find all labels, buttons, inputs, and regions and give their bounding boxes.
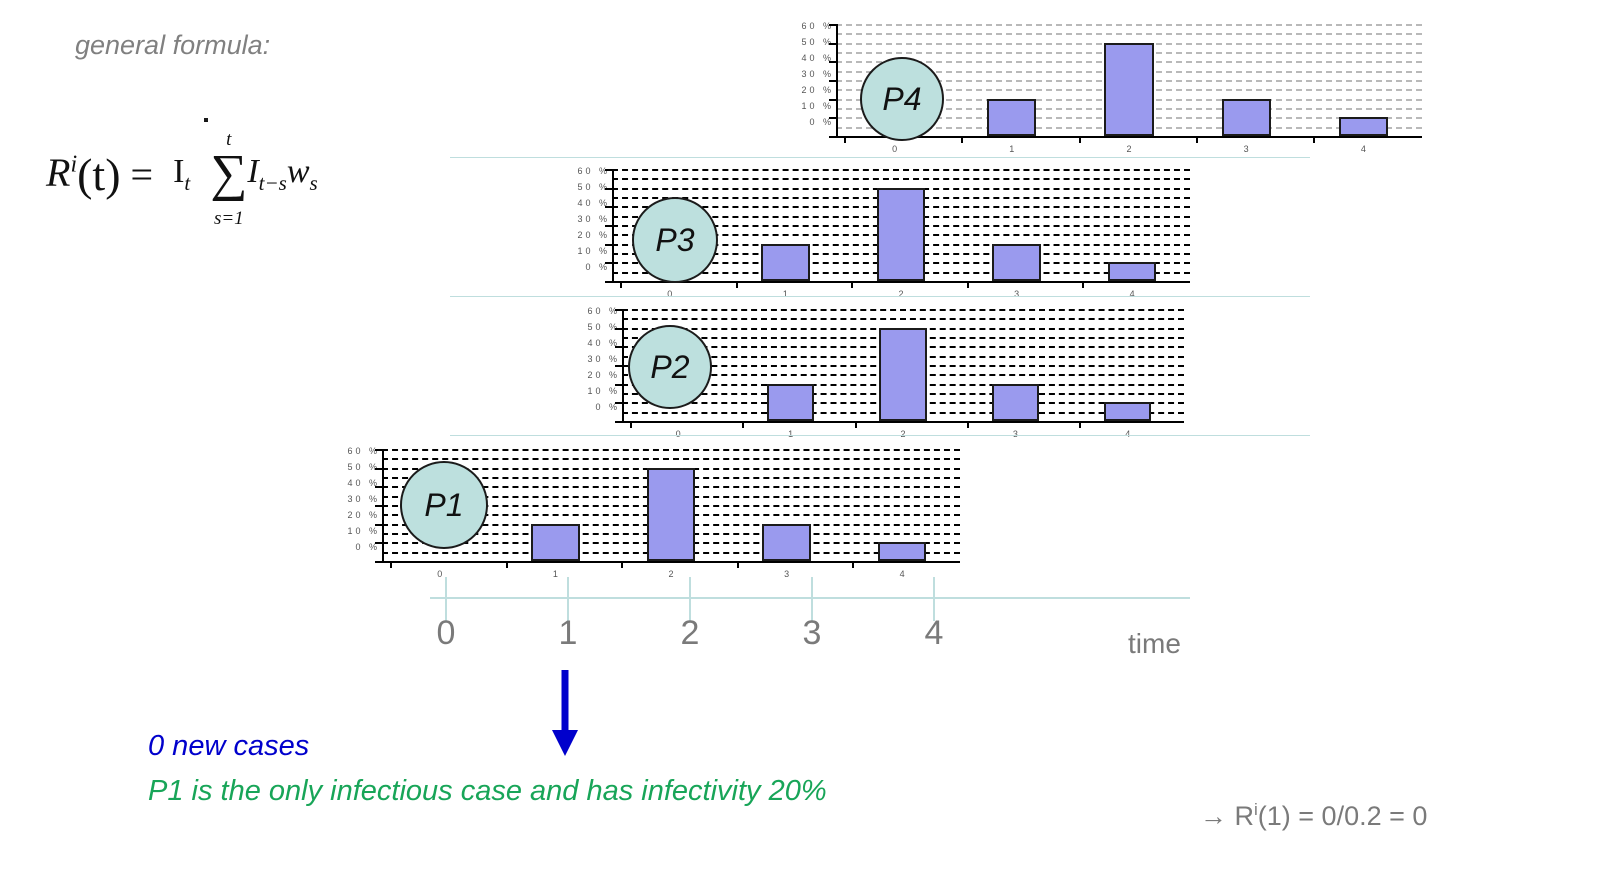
x-axis-tick-label: 3 (997, 289, 1037, 299)
y-axis-tick-label: 20 % (548, 367, 620, 383)
down-arrow-icon (546, 668, 586, 760)
timeline-label: 3 (782, 614, 842, 653)
x-axis-line (836, 136, 1422, 138)
y-axis-tick (615, 328, 624, 330)
bar (531, 524, 580, 561)
x-axis-tick (855, 421, 857, 428)
y-axis-tick-label: 30 % (548, 351, 620, 367)
x-axis-line (622, 421, 1184, 423)
y-axis-tick-label: 10 % (548, 383, 620, 399)
x-axis-tick-label: 2 (881, 289, 921, 299)
x-axis-line (382, 561, 960, 563)
x-axis-tick (961, 136, 963, 143)
formula-equals: = (125, 151, 160, 198)
x-axis-tick (736, 281, 738, 288)
y-axis-tick-label: 30 % (308, 491, 380, 507)
x-axis-tick (1196, 136, 1198, 143)
y-axis-tick (375, 486, 384, 488)
gridline-minor (612, 178, 1190, 180)
x-axis-tick (390, 561, 392, 568)
formula-numerator-subscript: t (184, 171, 190, 195)
x-axis-tick (1079, 421, 1081, 428)
formula-sum-lower-limit: s=1 (214, 208, 244, 229)
gridline-minor (382, 458, 960, 460)
caption-new-cases: 0 new cases (148, 730, 309, 763)
timeline-label: 0 (416, 614, 476, 653)
result-formula-prefix: → R (1200, 801, 1254, 831)
y-axis-tick (615, 346, 624, 348)
formula-fraction-bar (204, 118, 208, 122)
y-axis-tick-labels-P4: 60 %50 %40 %30 %20 %10 %0 % (762, 18, 834, 130)
caption-infectious: P1 is the only infectious case and has i… (148, 775, 827, 808)
y-axis-tick (605, 206, 614, 208)
person-marker-P2: P2 (628, 325, 712, 409)
bar (987, 99, 1036, 136)
bar (992, 384, 1039, 421)
bar (1222, 99, 1271, 136)
x-axis-tick-label: 4 (1343, 144, 1383, 154)
y-axis-tick (615, 402, 624, 404)
formula-fraction: It t ∑ s=1 It−sws (163, 118, 324, 231)
panel-separator (450, 296, 1310, 297)
x-axis-tick-label: 1 (992, 144, 1032, 154)
x-axis-tick (742, 421, 744, 428)
formula-den-term1-subscript: t−s (259, 171, 287, 195)
y-axis-tick-labels-P3: 60 %50 %40 %30 %20 %10 %0 % (538, 163, 610, 275)
formula-den-term2-subscript: s (310, 171, 318, 195)
y-axis-tick (375, 468, 384, 470)
y-axis-tick (615, 421, 624, 423)
y-axis-tick (375, 561, 384, 563)
time-axis-caption: time (1128, 628, 1181, 660)
y-axis-tick (375, 524, 384, 526)
bar (1104, 43, 1153, 136)
x-axis-tick-label: 4 (882, 569, 922, 579)
y-axis-tick-label: 60 % (548, 303, 620, 319)
sigma-icon: ∑ (210, 145, 247, 202)
y-axis-tick-label: 20 % (762, 82, 834, 98)
y-axis-tick (829, 117, 838, 119)
bar (761, 244, 810, 281)
gridline (836, 24, 1422, 26)
y-axis-tick-label: 60 % (308, 443, 380, 459)
y-axis-tick (605, 169, 614, 171)
y-axis-tick-label: 0 % (308, 539, 380, 555)
general-formula-label: general formula: (75, 30, 270, 61)
x-axis-tick-label: 4 (1112, 289, 1152, 299)
person-marker-P3: P3 (632, 197, 718, 283)
y-axis-tick (829, 61, 838, 63)
y-axis-tick-label: 50 % (762, 34, 834, 50)
formula-lhs: Ri(t) (46, 148, 121, 201)
general-formula-equation: Ri(t) = It t ∑ s=1 It−sws (46, 118, 324, 231)
y-axis-tick-label: 40 % (762, 50, 834, 66)
gridline (622, 309, 1184, 311)
y-axis-tick-label: 40 % (538, 195, 610, 211)
bar (878, 542, 927, 561)
bar (762, 524, 811, 561)
x-axis-tick (1079, 136, 1081, 143)
person-marker-P1: P1 (400, 461, 488, 549)
y-axis-tick (829, 80, 838, 82)
bar (879, 328, 926, 421)
y-axis-tick-label: 50 % (538, 179, 610, 195)
y-axis-tick-label: 0 % (538, 259, 610, 275)
x-axis-tick-label: 3 (995, 429, 1035, 439)
y-axis-tick-label: 40 % (548, 335, 620, 351)
y-axis-tick-label: 30 % (762, 66, 834, 82)
gridline (612, 169, 1190, 171)
x-axis-tick-label: 0 (875, 144, 915, 154)
y-axis-tick (605, 281, 614, 283)
formula-lhs-argument: (t) (77, 149, 120, 200)
y-axis-tick (829, 99, 838, 101)
result-formula: → Ri(1) = 0/0.2 = 0 (1200, 800, 1427, 832)
x-axis-tick-label: 1 (535, 569, 575, 579)
y-axis-tick-label: 20 % (308, 507, 380, 523)
y-axis-tick-label: 10 % (308, 523, 380, 539)
y-axis-tick-label: 50 % (308, 459, 380, 475)
bar (1108, 262, 1157, 281)
timeline-label: 2 (660, 614, 720, 653)
formula-summation: t ∑ s=1 (210, 118, 247, 231)
formula-numerator: It (163, 153, 200, 192)
x-axis-tick-label: 2 (883, 429, 923, 439)
gridline-minor (622, 318, 1184, 320)
formula-numerator-symbol: I (173, 153, 184, 190)
x-axis-tick (1313, 136, 1315, 143)
y-axis-tick (829, 136, 838, 138)
x-axis-tick-label: 0 (420, 569, 460, 579)
x-axis-line (612, 281, 1190, 283)
bar (1339, 117, 1388, 136)
y-axis-tick-label: 60 % (762, 18, 834, 34)
y-axis-tick (605, 225, 614, 227)
panel-separator (450, 157, 1310, 158)
y-axis-tick (605, 188, 614, 190)
y-axis-tick (375, 449, 384, 451)
y-axis-tick-label: 0 % (762, 114, 834, 130)
y-axis-tick (829, 24, 838, 26)
y-axis-tick-label: 0 % (548, 399, 620, 415)
y-axis-tick-label: 20 % (538, 227, 610, 243)
panel-separator (450, 435, 1310, 436)
bar (767, 384, 814, 421)
formula-denominator: t ∑ s=1 It−sws (204, 149, 323, 190)
x-axis-tick (737, 561, 739, 568)
timeline-label: 4 (904, 614, 964, 653)
formula-lhs-symbol: R (46, 150, 70, 195)
gridline (382, 449, 960, 451)
y-axis-tick-labels-P1: 60 %50 %40 %30 %20 %10 %0 % (308, 443, 380, 555)
x-axis-tick-label: 0 (658, 429, 698, 439)
x-axis-tick (967, 421, 969, 428)
bar (1104, 402, 1151, 421)
x-axis-tick (620, 281, 622, 288)
x-axis-tick (506, 561, 508, 568)
y-axis-tick (615, 309, 624, 311)
formula-den-term2: w (287, 153, 310, 190)
x-axis-tick-label: 2 (1109, 144, 1149, 154)
x-axis-tick (967, 281, 969, 288)
y-axis-tick-label: 40 % (308, 475, 380, 491)
y-axis-tick-labels-P2: 60 %50 %40 %30 %20 %10 %0 % (548, 303, 620, 415)
x-axis-tick-label: 1 (771, 429, 811, 439)
x-axis-tick-label: 3 (1226, 144, 1266, 154)
y-axis-tick (829, 43, 838, 45)
formula-den-term1: I (247, 153, 258, 190)
x-axis-tick (621, 561, 623, 568)
y-axis-tick-label: 50 % (548, 319, 620, 335)
y-axis-tick (615, 384, 624, 386)
x-axis-tick (1082, 281, 1084, 288)
y-axis-tick-label: 30 % (538, 211, 610, 227)
gridline-minor (836, 33, 1422, 35)
timeline-axis (430, 597, 1190, 599)
x-axis-tick (851, 281, 853, 288)
x-axis-tick-label: 4 (1108, 429, 1148, 439)
y-axis-tick-label: 60 % (538, 163, 610, 179)
y-axis-tick (615, 365, 624, 367)
y-axis-tick (605, 262, 614, 264)
x-axis-tick-label: 2 (651, 569, 691, 579)
timeline-label: 1 (538, 614, 598, 653)
y-axis-tick-label: 10 % (762, 98, 834, 114)
person-marker-P4: P4 (860, 57, 944, 141)
bar (877, 188, 926, 281)
result-formula-rest: (1) = 0/0.2 = 0 (1258, 801, 1428, 831)
x-axis-tick (630, 421, 632, 428)
x-axis-tick-label: 3 (767, 569, 807, 579)
x-axis-tick (844, 136, 846, 143)
bar (992, 244, 1041, 281)
y-axis-tick-label: 10 % (538, 243, 610, 259)
x-axis-tick-label: 1 (765, 289, 805, 299)
y-axis-tick (375, 505, 384, 507)
bar (647, 468, 696, 561)
y-axis-tick (605, 244, 614, 246)
x-axis-tick-label: 0 (650, 289, 690, 299)
x-axis-tick (852, 561, 854, 568)
y-axis-tick (375, 542, 384, 544)
